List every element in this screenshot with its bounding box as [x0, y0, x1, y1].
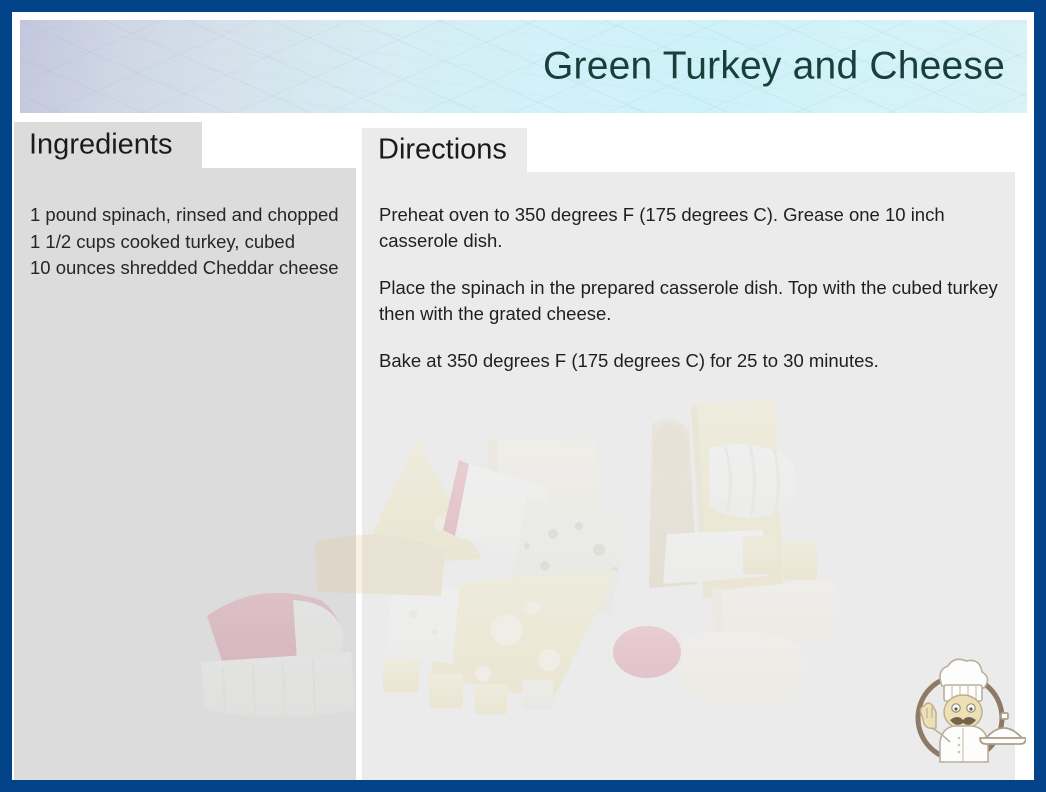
ingredients-panel: 1 pound spinach, rinsed and chopped 1 1/…	[14, 168, 356, 780]
directions-steps: Preheat oven to 350 degrees F (175 degre…	[379, 202, 1027, 374]
list-item: 1 1/2 cups cooked turkey, cubed	[30, 229, 348, 256]
chef-with-cloche-logo	[902, 650, 1026, 772]
page-title: Green Turkey and Cheese	[543, 45, 1005, 88]
ingredients-heading-tab: Ingredients	[14, 122, 202, 168]
direction-step: Place the spinach in the prepared casser…	[379, 275, 1027, 326]
directions-heading-label: Directions	[378, 134, 507, 167]
list-item: 10 ounces shredded Cheddar cheese	[30, 255, 348, 282]
list-item: 1 pound spinach, rinsed and chopped	[30, 202, 348, 229]
direction-step: Preheat oven to 350 degrees F (175 degre…	[379, 202, 1027, 253]
title-banner: Green Turkey and Cheese	[20, 20, 1027, 113]
ingredients-list: 1 pound spinach, rinsed and chopped 1 1/…	[30, 202, 348, 282]
slide-canvas: Green Turkey and Cheese Ingredients 1 po…	[12, 12, 1034, 780]
direction-step: Bake at 350 degrees F (175 degrees C) fo…	[379, 348, 1027, 374]
directions-heading-tab: Directions	[362, 128, 527, 172]
ingredients-heading-label: Ingredients	[29, 129, 173, 162]
recipe-slide: Green Turkey and Cheese Ingredients 1 po…	[0, 0, 1046, 792]
